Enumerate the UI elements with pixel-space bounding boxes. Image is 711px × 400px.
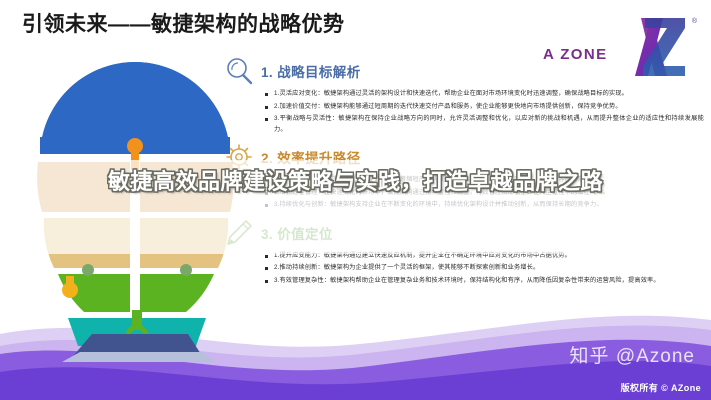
registered-mark: ® bbox=[692, 18, 697, 25]
list-item: 2.推动持续创新：敏捷架构为企业提供了一个灵活的框架，使其能够不断探索创新和业务… bbox=[274, 263, 704, 274]
copyright-watermark: 版权所有 © AZone bbox=[621, 381, 701, 394]
list-item: 1.灵活应对变化：敏捷架构通过灵活的架构设计和快速迭代，帮助企业在面对市场环境变… bbox=[274, 89, 704, 100]
slide-canvas: 引领未来——敏捷架构的战略优势 ® A ZONE bbox=[0, 0, 711, 400]
caption-overlay-band bbox=[0, 160, 711, 254]
zhihu-watermark: 知乎 @Azone bbox=[570, 341, 695, 368]
section-title: 1. 战略目标解析 bbox=[261, 61, 361, 81]
brand-logo: ® A ZONE bbox=[533, 4, 703, 78]
list-item: 2.加速价值交付：敏捷架构能够通过短周期的迭代快速交付产品和服务，使企业能够更快… bbox=[274, 102, 704, 113]
section-bullet-list: 1.提升应变能力：敏捷架构通过建立快速反应机制，提升企业在不确定环境中应对变化的… bbox=[258, 251, 704, 287]
list-item: 3.有效管理复杂性：敏捷架构帮助企业在管理复杂业务和技术环境时，保持结构化和有序… bbox=[274, 276, 704, 287]
brand-name: A ZONE bbox=[543, 46, 608, 63]
section-bullet-list: 1.灵活应对变化：敏捷架构通过灵活的架构设计和快速迭代，帮助企业在面对市场环境变… bbox=[258, 89, 704, 135]
az-monogram-logo-icon bbox=[605, 14, 689, 76]
list-item: 3.平衡战略与灵活性：敏捷架构在保持企业战略方向的同时，允许灵活调整和优化，以应… bbox=[274, 114, 704, 135]
magnifier-icon bbox=[224, 56, 254, 86]
page-title: 引领未来——敏捷架构的战略优势 bbox=[22, 8, 345, 38]
